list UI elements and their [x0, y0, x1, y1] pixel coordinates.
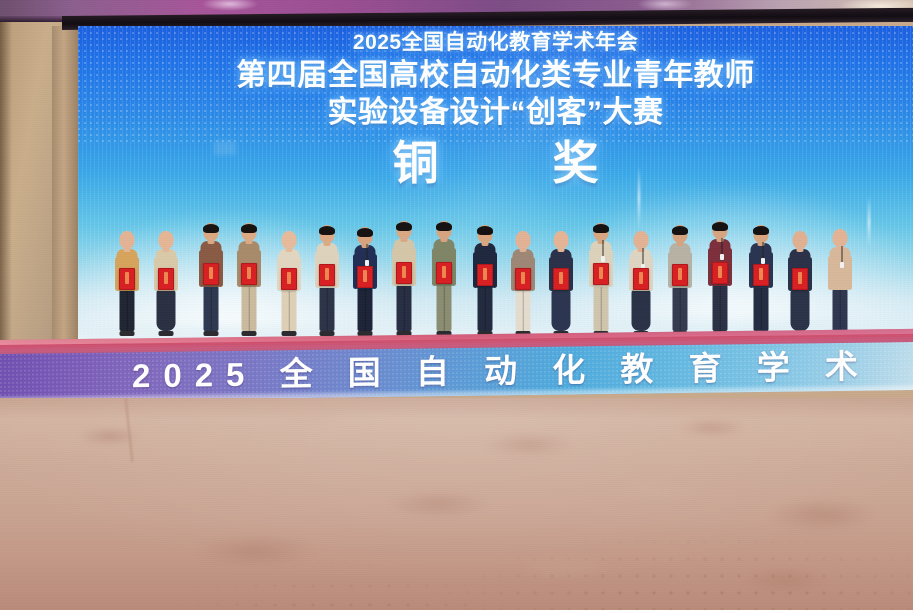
- recipient-lanyard: [602, 240, 604, 256]
- award-recipient: [350, 226, 380, 336]
- recipient-shoes: [242, 331, 257, 336]
- recipient-lanyard: [642, 248, 644, 264]
- recipient-hair: [203, 224, 219, 233]
- recipient-shoes: [120, 331, 135, 336]
- recipient-shoes: [159, 331, 174, 336]
- award-recipient: [389, 218, 419, 336]
- recipient-lanyard: [762, 242, 764, 258]
- recipient-legs: [833, 288, 848, 331]
- recipient-hair: [436, 222, 452, 231]
- recipient-legs: [282, 289, 297, 331]
- recipient-legs: [437, 284, 452, 331]
- award-certificate: [633, 268, 649, 290]
- recipient-name-badge: [840, 262, 844, 268]
- recipient-arm: [847, 256, 852, 290]
- recipient-legs: [673, 286, 688, 331]
- award-certificate: [158, 268, 174, 290]
- award-recipient: [746, 224, 776, 336]
- recipient-hair: [753, 226, 769, 235]
- recipient-skirt: [632, 289, 651, 331]
- recipient-hair: [593, 224, 609, 233]
- recipient-hair: [241, 224, 257, 233]
- award-recipient: [151, 230, 181, 336]
- recipient-legs: [713, 284, 728, 331]
- award-recipient: [508, 231, 538, 336]
- carpet-lighting: [0, 398, 913, 610]
- award-certificate: [515, 268, 531, 290]
- event-photo: 2025全国自动化教育学术年会 第四届全国高校自动化类专业青年教师 实验设备设计…: [0, 0, 913, 610]
- recipient-hair: [672, 226, 688, 235]
- award-recipient: [470, 224, 500, 336]
- award-certificate: [712, 262, 728, 284]
- award-certificate: [593, 263, 609, 285]
- recipient-legs: [358, 287, 373, 331]
- award-certificate: [672, 264, 688, 286]
- award-recipient: [196, 222, 226, 336]
- recipient-lanyard: [721, 238, 723, 254]
- recipient-skirt: [791, 289, 810, 331]
- recipient-name-badge: [601, 256, 605, 262]
- recipient-legs: [204, 285, 219, 331]
- recipient-legs: [594, 285, 609, 331]
- award-certificate: [357, 266, 373, 288]
- award-recipient: [546, 230, 576, 336]
- award-certificate: [436, 262, 452, 284]
- recipient-head: [516, 231, 531, 249]
- award-certificate: [753, 264, 769, 286]
- award-recipient: [626, 232, 656, 336]
- award-certificate: [477, 264, 493, 286]
- recipient-skirt: [157, 289, 176, 331]
- recipient-hair: [319, 226, 335, 235]
- recipient-hair: [396, 222, 412, 231]
- recipient-head: [833, 229, 848, 247]
- award-recipient: [665, 223, 695, 336]
- award-recipient: [825, 228, 855, 336]
- award-recipient: [785, 231, 815, 336]
- award-recipient: [429, 219, 459, 336]
- recipient-head: [282, 231, 297, 249]
- recipient-legs: [516, 289, 531, 331]
- recipient-arm: [828, 256, 833, 290]
- recipient-legs: [242, 285, 257, 331]
- recipient-legs: [320, 286, 335, 331]
- award-recipient: [586, 221, 616, 336]
- recipient-legs: [478, 286, 493, 331]
- recipient-hair: [477, 226, 493, 235]
- recipient-head: [634, 231, 649, 249]
- recipient-lanyard: [841, 246, 843, 262]
- recipient-head: [120, 231, 135, 249]
- recipient-legs: [120, 289, 135, 331]
- recipient-skirt: [552, 289, 571, 331]
- recipient-head: [554, 231, 569, 249]
- award-recipients-row: [78, 26, 913, 348]
- recipient-shoes: [282, 331, 297, 336]
- recipient-lanyard: [366, 244, 368, 260]
- award-recipient: [312, 224, 342, 336]
- award-certificate: [241, 263, 257, 285]
- venue-carpet: [0, 398, 913, 610]
- award-certificate: [119, 268, 135, 290]
- recipient-head: [793, 231, 808, 249]
- award-certificate: [203, 263, 219, 285]
- recipient-hair: [357, 228, 373, 237]
- recipient-shoes: [204, 331, 219, 336]
- award-recipient: [274, 232, 304, 336]
- recipient-legs: [397, 284, 412, 331]
- recipient-legs: [754, 286, 769, 331]
- award-recipient: [234, 220, 264, 336]
- award-certificate: [319, 264, 335, 286]
- award-recipient: [112, 232, 142, 336]
- award-recipient: [705, 218, 735, 336]
- recipient-head: [159, 231, 174, 249]
- award-certificate: [396, 262, 412, 284]
- award-certificate: [281, 268, 297, 290]
- award-certificate: [792, 268, 808, 290]
- award-certificate: [553, 268, 569, 290]
- recipient-name-badge: [720, 254, 724, 260]
- recipient-hair: [712, 222, 728, 231]
